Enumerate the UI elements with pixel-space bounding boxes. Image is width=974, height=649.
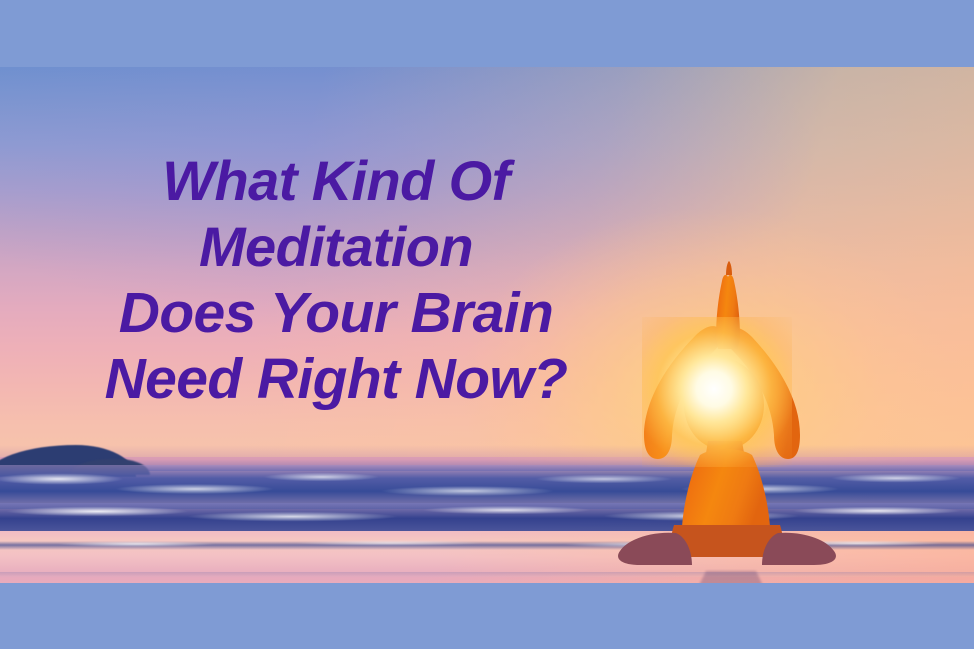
headline-line-2: Meditation bbox=[36, 214, 636, 280]
banner-canvas: What Kind Of Meditation Does Your Brain … bbox=[0, 0, 974, 649]
right-leg bbox=[762, 533, 836, 565]
fingertips bbox=[726, 261, 732, 275]
sun-core bbox=[642, 317, 792, 467]
headline-line-4: Need Right Now? bbox=[36, 346, 636, 412]
page-title: What Kind Of Meditation Does Your Brain … bbox=[36, 148, 636, 412]
left-leg bbox=[618, 533, 692, 565]
headline-line-3: Does Your Brain bbox=[36, 280, 636, 346]
headline-line-1: What Kind Of bbox=[36, 148, 636, 214]
figure-reflection bbox=[600, 567, 860, 583]
